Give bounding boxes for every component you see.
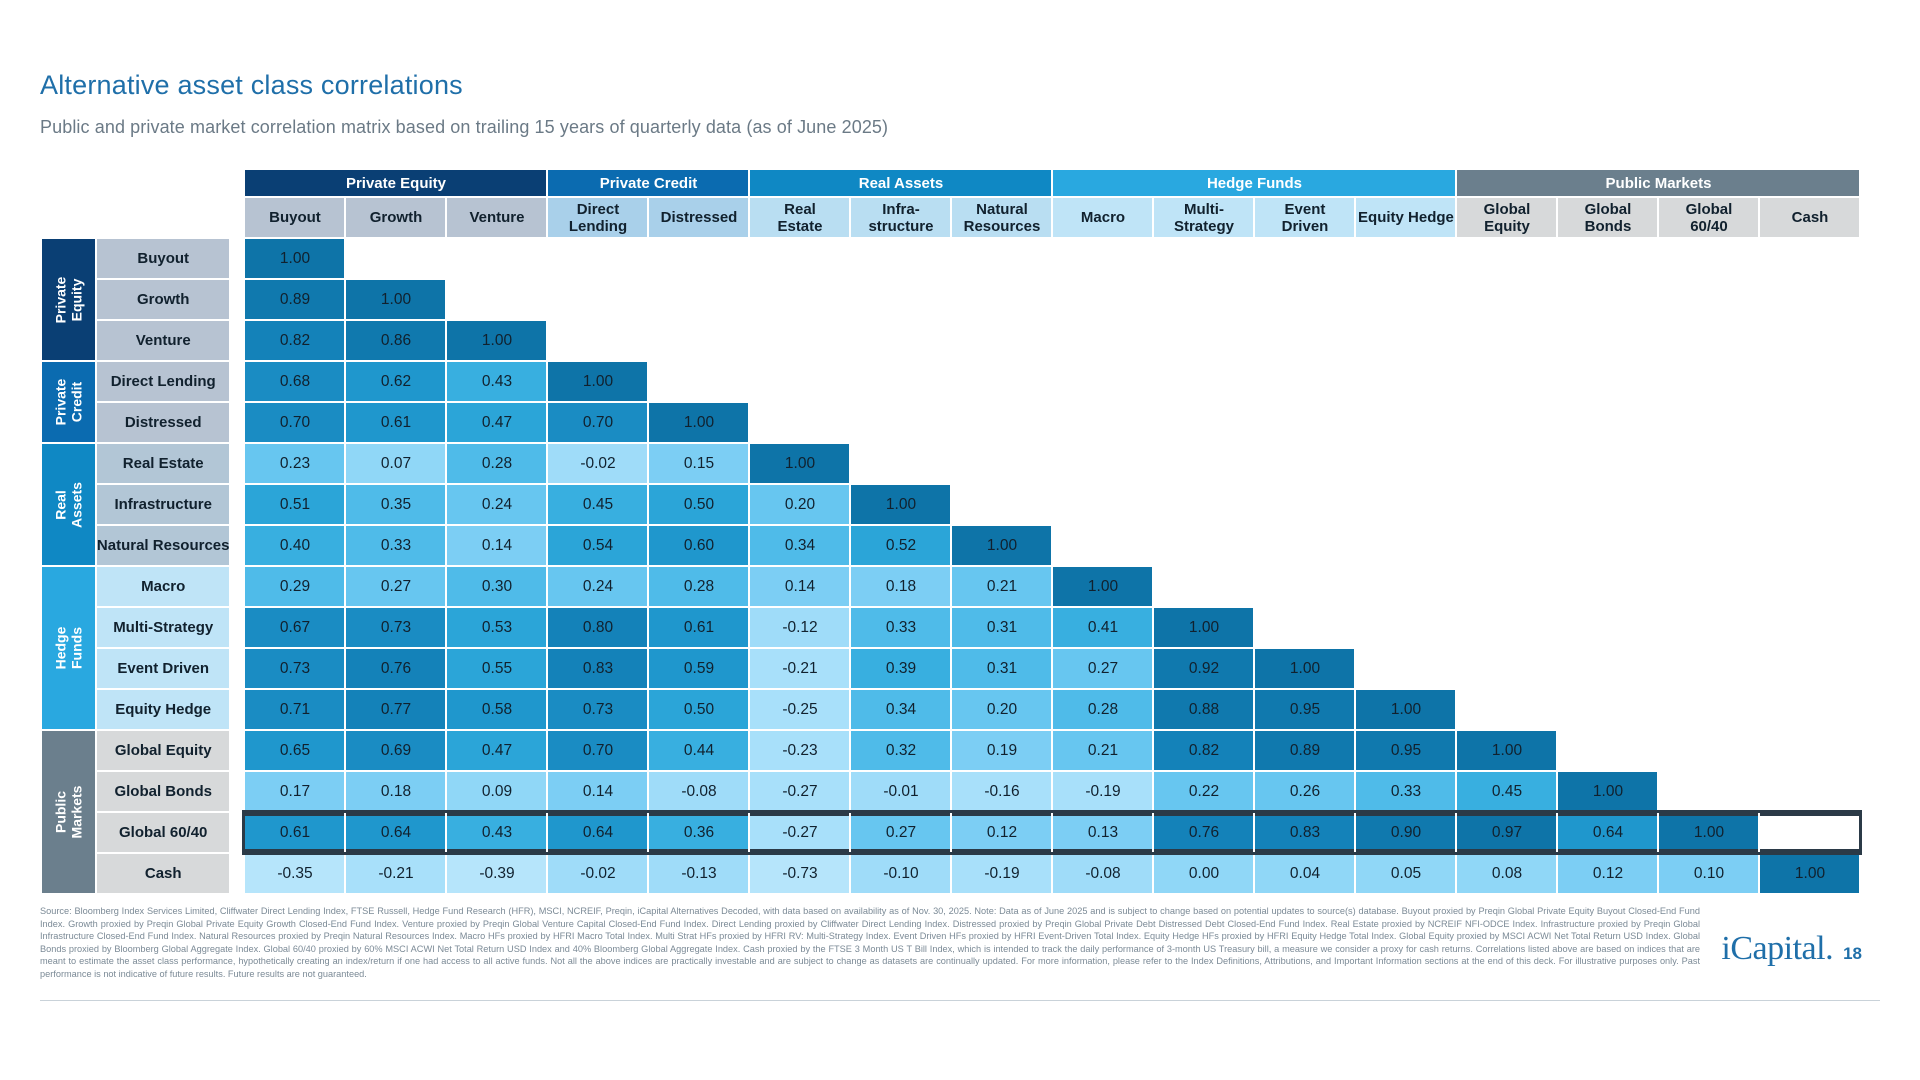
matrix-cell-empty <box>1457 567 1556 606</box>
matrix-cell: 0.30 <box>447 567 546 606</box>
matrix-cell: 1.00 <box>1356 690 1455 729</box>
matrix-cell: 0.47 <box>447 731 546 770</box>
matrix-cell-empty <box>548 321 647 360</box>
matrix-cell: 0.60 <box>649 526 748 565</box>
matrix-cell: 0.76 <box>346 649 445 688</box>
row-group-real-assets: RealAssets <box>42 444 95 565</box>
row-gutter <box>231 280 243 319</box>
matrix-cell: -0.39 <box>447 854 546 893</box>
table-row: Multi-Strategy0.670.730.530.800.61-0.120… <box>42 608 1859 647</box>
matrix-cell-empty <box>1356 567 1455 606</box>
matrix-cell: 0.18 <box>851 567 950 606</box>
matrix-cell-empty <box>851 362 950 401</box>
column-header-macro: Macro <box>1053 198 1152 237</box>
matrix-cell: 1.00 <box>649 403 748 442</box>
matrix-cell: 0.43 <box>447 362 546 401</box>
correlation-table: Private EquityPrivate CreditReal AssetsH… <box>40 168 1861 895</box>
matrix-cell: 0.54 <box>548 526 647 565</box>
row-gutter <box>231 690 243 729</box>
matrix-cell-empty <box>1558 526 1657 565</box>
matrix-cell: 0.68 <box>245 362 344 401</box>
column-header-real-estate: RealEstate <box>750 198 849 237</box>
matrix-cell: 0.39 <box>851 649 950 688</box>
matrix-cell-empty <box>1659 772 1758 811</box>
matrix-cell-empty <box>1659 485 1758 524</box>
matrix-cell: 0.95 <box>1255 690 1354 729</box>
matrix-cell-empty <box>952 239 1051 278</box>
matrix-cell-empty <box>1356 649 1455 688</box>
matrix-cell: 0.33 <box>1356 772 1455 811</box>
matrix-cell: 0.24 <box>548 567 647 606</box>
matrix-cell: 0.83 <box>548 649 647 688</box>
matrix-cell-empty <box>851 321 950 360</box>
matrix-cell-empty <box>952 485 1051 524</box>
row-header-macro: Macro <box>97 567 230 606</box>
matrix-cell-empty <box>1760 403 1859 442</box>
matrix-cell: 0.82 <box>1154 731 1253 770</box>
matrix-cell-empty <box>750 239 849 278</box>
matrix-cell-empty <box>1356 239 1455 278</box>
column-header-global-bonds: GlobalBonds <box>1558 198 1657 237</box>
matrix-cell: 0.59 <box>649 649 748 688</box>
row-gutter <box>231 362 243 401</box>
matrix-cell-empty <box>1053 321 1152 360</box>
matrix-cell: 0.24 <box>447 485 546 524</box>
matrix-cell: 0.61 <box>245 813 344 852</box>
matrix-cell-empty <box>1558 649 1657 688</box>
matrix-cell-empty <box>1053 403 1152 442</box>
logo-text: iCapital <box>1721 930 1825 967</box>
matrix-cell-empty <box>1154 280 1253 319</box>
matrix-cell-empty <box>1457 608 1556 647</box>
column-header-growth: Growth <box>346 198 445 237</box>
matrix-cell-empty <box>1255 444 1354 483</box>
row-gutter <box>231 403 243 442</box>
matrix-cell: 1.00 <box>1760 854 1859 893</box>
matrix-cell-empty <box>447 280 546 319</box>
matrix-cell-empty <box>1457 321 1556 360</box>
matrix-cell-empty <box>1356 280 1455 319</box>
matrix-cell: 0.22 <box>1154 772 1253 811</box>
column-header-direct-lending: DirectLending <box>548 198 647 237</box>
page-title: Alternative asset class correlations <box>40 70 463 101</box>
matrix-cell-empty <box>1053 280 1152 319</box>
matrix-cell: -0.01 <box>851 772 950 811</box>
row-header-direct-lending: Direct Lending <box>97 362 230 401</box>
matrix-cell: 0.33 <box>346 526 445 565</box>
matrix-cell-empty <box>1255 403 1354 442</box>
matrix-cell-empty <box>952 403 1051 442</box>
matrix-cell: 0.26 <box>1255 772 1354 811</box>
matrix-cell-empty <box>1154 526 1253 565</box>
matrix-cell-empty <box>1760 690 1859 729</box>
matrix-cell: 1.00 <box>952 526 1051 565</box>
matrix-cell: 0.90 <box>1356 813 1455 852</box>
matrix-cell: 1.00 <box>1255 649 1354 688</box>
table-row: Natural Resources0.400.330.140.540.600.3… <box>42 526 1859 565</box>
table-row: Growth0.891.00 <box>42 280 1859 319</box>
matrix-cell-empty <box>1457 649 1556 688</box>
table-row: RealAssetsReal Estate0.230.070.28-0.020.… <box>42 444 1859 483</box>
matrix-cell: 1.00 <box>346 280 445 319</box>
matrix-cell: 0.64 <box>1558 813 1657 852</box>
matrix-cell: 1.00 <box>447 321 546 360</box>
column-header-natural-resources: NaturalResources <box>952 198 1051 237</box>
matrix-cell: 0.69 <box>346 731 445 770</box>
matrix-cell-empty <box>649 280 748 319</box>
matrix-cell: 0.73 <box>245 649 344 688</box>
matrix-cell: 0.14 <box>750 567 849 606</box>
matrix-cell: 0.53 <box>447 608 546 647</box>
matrix-cell: 0.43 <box>447 813 546 852</box>
matrix-cell-empty <box>1760 362 1859 401</box>
matrix-cell-empty <box>1558 608 1657 647</box>
matrix-cell: -0.08 <box>649 772 748 811</box>
matrix-cell: 0.28 <box>1053 690 1152 729</box>
column-header-distressed: Distressed <box>649 198 748 237</box>
matrix-cell-empty <box>1558 567 1657 606</box>
matrix-cell-empty <box>1255 280 1354 319</box>
matrix-cell-empty <box>1558 280 1657 319</box>
matrix-cell: -0.02 <box>548 854 647 893</box>
table-row: Distressed0.700.610.470.701.00 <box>42 403 1859 442</box>
matrix-cell-empty <box>1760 321 1859 360</box>
matrix-cell: -0.12 <box>750 608 849 647</box>
table-row: PrivateCreditDirect Lending0.680.620.431… <box>42 362 1859 401</box>
matrix-cell-empty <box>1053 485 1152 524</box>
matrix-cell-empty <box>1659 567 1758 606</box>
matrix-cell-empty <box>952 362 1051 401</box>
matrix-cell-empty <box>1255 321 1354 360</box>
matrix-cell: 0.80 <box>548 608 647 647</box>
matrix-cell: 0.27 <box>1053 649 1152 688</box>
matrix-cell-empty <box>1760 444 1859 483</box>
matrix-cell: 1.00 <box>1558 772 1657 811</box>
row-gutter <box>231 772 243 811</box>
matrix-cell-empty <box>1457 690 1556 729</box>
matrix-cell-empty <box>1356 608 1455 647</box>
matrix-cell: 0.21 <box>1053 731 1152 770</box>
matrix-cell: 0.64 <box>548 813 647 852</box>
matrix-cell: 1.00 <box>548 362 647 401</box>
matrix-cell: 0.07 <box>346 444 445 483</box>
matrix-cell-empty <box>1760 608 1859 647</box>
matrix-cell: 0.18 <box>346 772 445 811</box>
matrix-cell: 0.17 <box>245 772 344 811</box>
matrix-cell: 0.83 <box>1255 813 1354 852</box>
matrix-cell: -0.08 <box>1053 854 1152 893</box>
matrix-cell-empty <box>1356 403 1455 442</box>
matrix-cell: 1.00 <box>1457 731 1556 770</box>
matrix-cell-empty <box>1659 526 1758 565</box>
matrix-cell-empty <box>1255 485 1354 524</box>
matrix-cell-empty <box>649 362 748 401</box>
column-header-buyout: Buyout <box>245 198 344 237</box>
matrix-cell: 0.40 <box>245 526 344 565</box>
matrix-cell: 0.71 <box>245 690 344 729</box>
row-gutter <box>231 239 243 278</box>
matrix-cell: -0.16 <box>952 772 1051 811</box>
matrix-cell: 0.50 <box>649 485 748 524</box>
brand-logo: iCapital. 18 <box>1721 930 1862 968</box>
row-header-multi-strategy: Multi-Strategy <box>97 608 230 647</box>
row-gutter <box>231 485 243 524</box>
table-row: Venture0.820.861.00 <box>42 321 1859 360</box>
table-body: PrivateEquityBuyout1.00Growth0.891.00Ven… <box>42 239 1859 893</box>
matrix-cell: 0.20 <box>952 690 1051 729</box>
matrix-cell: 0.32 <box>851 731 950 770</box>
matrix-cell-empty <box>1760 239 1859 278</box>
column-group-public-markets: Public Markets <box>1457 170 1859 196</box>
matrix-cell-empty <box>1659 690 1758 729</box>
row-gutter <box>231 526 243 565</box>
matrix-cell-empty <box>1255 526 1354 565</box>
matrix-cell: -0.13 <box>649 854 748 893</box>
matrix-cell: 0.34 <box>750 526 849 565</box>
matrix-cell: 0.58 <box>447 690 546 729</box>
column-group-private-credit: Private Credit <box>548 170 748 196</box>
table-head: Private EquityPrivate CreditReal AssetsH… <box>42 170 1859 237</box>
matrix-cell: 0.12 <box>952 813 1051 852</box>
matrix-cell: 0.14 <box>548 772 647 811</box>
column-header-row: BuyoutGrowthVentureDirectLendingDistress… <box>42 198 1859 237</box>
column-header-equity-hedge: Equity Hedge <box>1356 198 1455 237</box>
row-group-private-equity: PrivateEquity <box>42 239 95 360</box>
matrix-cell: 0.65 <box>245 731 344 770</box>
table-row: Global Bonds0.170.180.090.14-0.08-0.27-0… <box>42 772 1859 811</box>
matrix-cell-empty <box>548 280 647 319</box>
matrix-cell: 0.52 <box>851 526 950 565</box>
matrix-cell-empty <box>1356 362 1455 401</box>
matrix-cell: 1.00 <box>851 485 950 524</box>
matrix-cell: 0.61 <box>649 608 748 647</box>
row-header-global-equity: Global Equity <box>97 731 230 770</box>
matrix-cell-empty <box>1053 444 1152 483</box>
matrix-cell-empty <box>1659 444 1758 483</box>
matrix-cell: 0.47 <box>447 403 546 442</box>
matrix-cell: 0.45 <box>548 485 647 524</box>
row-header-buyout: Buyout <box>97 239 230 278</box>
matrix-cell-empty <box>1154 444 1253 483</box>
matrix-cell: 0.77 <box>346 690 445 729</box>
matrix-cell: 0.50 <box>649 690 748 729</box>
matrix-cell: 0.19 <box>952 731 1051 770</box>
matrix-cell-empty <box>1457 239 1556 278</box>
matrix-cell: 0.97 <box>1457 813 1556 852</box>
matrix-cell: -0.21 <box>346 854 445 893</box>
matrix-cell: -0.27 <box>750 813 849 852</box>
matrix-cell: -0.19 <box>952 854 1051 893</box>
matrix-cell-empty <box>346 239 445 278</box>
row-gutter <box>231 321 243 360</box>
matrix-cell: 0.70 <box>548 403 647 442</box>
matrix-cell-empty <box>1558 485 1657 524</box>
matrix-cell-empty <box>1255 608 1354 647</box>
matrix-cell: 0.73 <box>548 690 647 729</box>
column-header-cash: Cash <box>1760 198 1859 237</box>
logo-dot: . <box>1825 930 1833 967</box>
matrix-cell: -0.73 <box>750 854 849 893</box>
table-row: PrivateEquityBuyout1.00 <box>42 239 1859 278</box>
matrix-cell: 0.51 <box>245 485 344 524</box>
matrix-cell-empty <box>1760 526 1859 565</box>
matrix-cell: 0.08 <box>1457 854 1556 893</box>
matrix-cell: 0.88 <box>1154 690 1253 729</box>
matrix-cell: 1.00 <box>1659 813 1758 852</box>
matrix-cell-empty <box>750 362 849 401</box>
matrix-cell: 0.95 <box>1356 731 1455 770</box>
matrix-cell-empty <box>1356 526 1455 565</box>
matrix-cell: 0.62 <box>346 362 445 401</box>
row-group-hedge-funds: HedgeFunds <box>42 567 95 729</box>
matrix-cell-empty <box>1558 321 1657 360</box>
matrix-cell-empty <box>1356 321 1455 360</box>
matrix-cell: 0.86 <box>346 321 445 360</box>
matrix-cell-empty <box>1760 649 1859 688</box>
matrix-cell: -0.02 <box>548 444 647 483</box>
page-subtitle: Public and private market correlation ma… <box>40 117 888 138</box>
matrix-cell-empty <box>1053 239 1152 278</box>
matrix-cell-empty <box>1558 362 1657 401</box>
column-group-real-assets: Real Assets <box>750 170 1051 196</box>
matrix-cell-empty <box>1154 239 1253 278</box>
footnote-text: Source: Bloomberg Index Services Limited… <box>40 905 1700 981</box>
matrix-cell-empty <box>1154 485 1253 524</box>
matrix-cell-empty <box>1659 362 1758 401</box>
matrix-cell-empty <box>1154 403 1253 442</box>
column-header-infrastructure: Infra-structure <box>851 198 950 237</box>
column-group-hedge-funds: Hedge Funds <box>1053 170 1455 196</box>
matrix-cell: 0.45 <box>1457 772 1556 811</box>
matrix-cell-empty <box>851 239 950 278</box>
matrix-cell-empty <box>851 280 950 319</box>
column-group-private-equity: Private Equity <box>245 170 546 196</box>
matrix-cell-empty <box>750 280 849 319</box>
matrix-cell-empty <box>447 239 546 278</box>
matrix-cell: 1.00 <box>1053 567 1152 606</box>
row-header-growth: Growth <box>97 280 230 319</box>
row-header-natural-resources: Natural Resources <box>97 526 230 565</box>
matrix-cell-empty <box>1659 649 1758 688</box>
matrix-cell-empty <box>1053 526 1152 565</box>
column-header-event-driven: EventDriven <box>1255 198 1354 237</box>
matrix-cell: 0.27 <box>851 813 950 852</box>
matrix-cell: 0.28 <box>447 444 546 483</box>
matrix-cell-empty <box>548 239 647 278</box>
matrix-cell-empty <box>1659 280 1758 319</box>
column-header-multi-strategy: Multi-Strategy <box>1154 198 1253 237</box>
table-row: Global 60/400.610.640.430.640.36-0.270.2… <box>42 813 1859 852</box>
row-header-infrastructure: Infrastructure <box>97 485 230 524</box>
row-gutter <box>231 731 243 770</box>
matrix-cell-empty <box>750 321 849 360</box>
row-gutter <box>231 567 243 606</box>
matrix-cell-empty <box>1659 321 1758 360</box>
matrix-cell: -0.23 <box>750 731 849 770</box>
matrix-cell: 0.33 <box>851 608 950 647</box>
matrix-cell-empty <box>1558 731 1657 770</box>
row-gutter <box>231 444 243 483</box>
matrix-cell-empty <box>1558 690 1657 729</box>
matrix-cell-empty <box>851 403 950 442</box>
matrix-cell-empty <box>952 444 1051 483</box>
matrix-cell: 0.05 <box>1356 854 1455 893</box>
row-header-cash: Cash <box>97 854 230 893</box>
matrix-cell: 0.09 <box>447 772 546 811</box>
matrix-cell: 0.73 <box>346 608 445 647</box>
matrix-cell-empty <box>1760 567 1859 606</box>
matrix-cell-empty <box>1356 444 1455 483</box>
matrix-cell: 0.13 <box>1053 813 1152 852</box>
matrix-cell-empty <box>1760 280 1859 319</box>
matrix-cell: 0.89 <box>1255 731 1354 770</box>
matrix-cell: 0.21 <box>952 567 1051 606</box>
table-row: Event Driven0.730.760.550.830.59-0.210.3… <box>42 649 1859 688</box>
header-corner-sub <box>42 198 243 237</box>
matrix-cell-empty <box>1053 362 1152 401</box>
row-gutter <box>231 854 243 893</box>
row-gutter <box>231 649 243 688</box>
row-header-global-60-40: Global 60/40 <box>97 813 230 852</box>
row-gutter <box>231 813 243 852</box>
matrix-cell-empty <box>750 403 849 442</box>
row-header-equity-hedge: Equity Hedge <box>97 690 230 729</box>
matrix-cell: 0.28 <box>649 567 748 606</box>
matrix-cell-empty <box>1760 813 1859 852</box>
matrix-cell-empty <box>1659 239 1758 278</box>
matrix-cell: 0.23 <box>245 444 344 483</box>
correlation-matrix: Private EquityPrivate CreditReal AssetsH… <box>40 168 1861 895</box>
row-group-private-credit: PrivateCredit <box>42 362 95 442</box>
matrix-cell-empty <box>1659 403 1758 442</box>
matrix-cell: 0.55 <box>447 649 546 688</box>
matrix-cell-empty <box>1659 608 1758 647</box>
matrix-cell: 0.31 <box>952 608 1051 647</box>
matrix-cell: 0.35 <box>346 485 445 524</box>
matrix-cell-empty <box>1457 280 1556 319</box>
matrix-cell: 0.82 <box>245 321 344 360</box>
matrix-cell-empty <box>1760 731 1859 770</box>
matrix-cell-empty <box>1457 526 1556 565</box>
row-group-public-markets: PublicMarkets <box>42 731 95 893</box>
matrix-cell-empty <box>1558 403 1657 442</box>
matrix-cell-empty <box>952 321 1051 360</box>
matrix-cell: 0.34 <box>851 690 950 729</box>
matrix-cell: 1.00 <box>750 444 849 483</box>
matrix-cell: 0.44 <box>649 731 748 770</box>
table-row: PublicMarketsGlobal Equity0.650.690.470.… <box>42 731 1859 770</box>
row-header-global-bonds: Global Bonds <box>97 772 230 811</box>
matrix-cell: 0.27 <box>346 567 445 606</box>
matrix-cell-empty <box>1154 362 1253 401</box>
matrix-cell: 1.00 <box>1154 608 1253 647</box>
matrix-cell-empty <box>1558 239 1657 278</box>
matrix-cell-empty <box>1659 731 1758 770</box>
matrix-cell-empty <box>952 280 1051 319</box>
matrix-cell: 1.00 <box>245 239 344 278</box>
matrix-cell: -0.25 <box>750 690 849 729</box>
matrix-cell: 0.14 <box>447 526 546 565</box>
matrix-cell-empty <box>649 239 748 278</box>
matrix-cell: 0.89 <box>245 280 344 319</box>
matrix-cell: 0.04 <box>1255 854 1354 893</box>
matrix-cell: 0.00 <box>1154 854 1253 893</box>
column-header-global-equity: GlobalEquity <box>1457 198 1556 237</box>
matrix-cell: -0.21 <box>750 649 849 688</box>
matrix-cell: 0.70 <box>245 403 344 442</box>
matrix-cell-empty <box>1356 485 1455 524</box>
matrix-cell: 0.41 <box>1053 608 1152 647</box>
